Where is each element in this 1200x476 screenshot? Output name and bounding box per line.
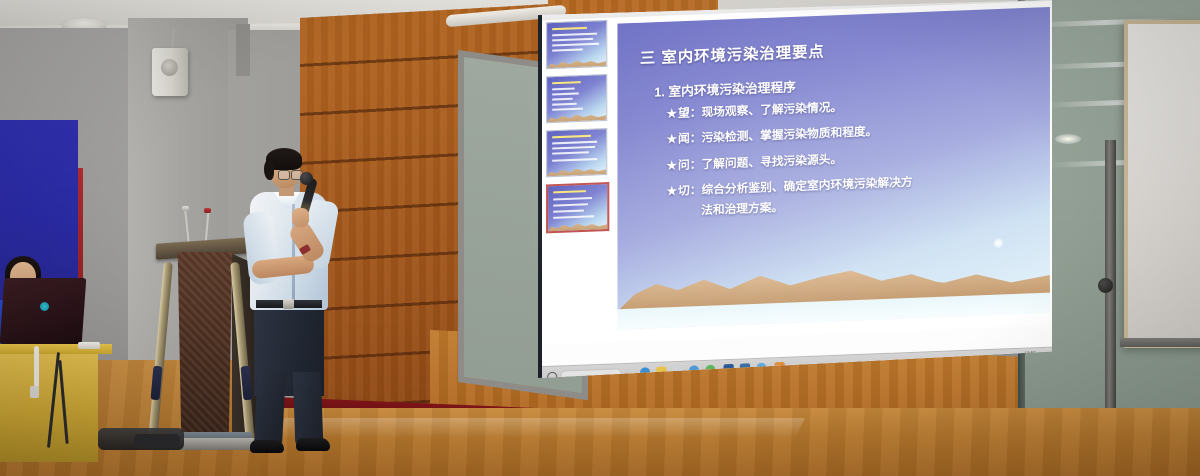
powerpoint-window[interactable]: 三 室内环境污染治理要点 1. 室内环境污染治理程序 ★望：现场观察、了解污染情… [542, 0, 1052, 378]
slide-title: 三 室内环境污染治理要点 [640, 40, 825, 69]
slide-bullet: ★切：综合分析鉴别、确定室内环境污染解决方 法和治理方案。 [666, 171, 1041, 220]
slide-thumbnail[interactable] [546, 128, 607, 177]
bullet-text: 现场观察、了解污染情况。 [701, 102, 842, 120]
slide-bullet-list: ★望：现场观察、了解污染情况。 ★闻：污染检测、掌握污染物质和程度。 ★问：了解… [666, 93, 1041, 231]
slide-thumbnail[interactable] [546, 74, 607, 123]
presenter-leg-right [293, 372, 323, 443]
laptop-screen [0, 278, 86, 344]
eyeglass-lens-left [278, 170, 290, 180]
slide-bullet: ★问：了解问题、寻找污染源头。 [666, 145, 1041, 174]
power-cable-white [34, 346, 39, 388]
laptop-logo-icon [40, 302, 49, 311]
floor-reflection [275, 418, 805, 438]
lecture-hall-scene: 三 室内环境污染治理要点 1. 室内环境污染治理程序 ★望：现场观察、了解污染情… [0, 0, 1200, 476]
bullet-label: 问： [678, 159, 701, 172]
slide-thumbnail[interactable] [546, 20, 607, 69]
power-adapter [30, 386, 39, 398]
star-bullet-icon: ★ [666, 186, 677, 199]
thumb-mountain-graphic [547, 111, 606, 122]
floor-equipment [134, 434, 180, 447]
slide-bullet: ★闻：污染检测、掌握污染物质和程度。 [666, 119, 1041, 148]
podium-mic-head [182, 206, 189, 211]
podium-front-panel [174, 252, 236, 448]
wall-speaker [152, 48, 188, 96]
podium-mic-head-red [204, 208, 211, 213]
thumb-mountain-graphic [547, 165, 606, 176]
projection-screen: 三 室内环境污染治理要点 1. 室内环境污染治理程序 ★望：现场观察、了解污染情… [538, 0, 1052, 378]
sun-glow-icon [994, 238, 1003, 248]
eyeglasses-icon [278, 170, 302, 178]
thumb-mountain-graphic [548, 220, 607, 231]
powerpoint-workspace: 三 室内环境污染治理要点 1. 室内环境污染治理程序 ★望：现场观察、了解污染情… [542, 0, 1052, 344]
bullet-text: 了解问题、寻找污染源头。 [701, 153, 842, 171]
presenter-belt-buckle [283, 299, 294, 309]
glass-light-glint [1055, 134, 1081, 144]
slide-thumbnail-selected[interactable] [546, 182, 609, 233]
whiteboard-adjust-knob[interactable] [1098, 278, 1113, 293]
presenter-shoe-right [296, 438, 330, 451]
presenter-hair-side [264, 160, 274, 180]
slide-canvas[interactable]: 三 室内环境污染治理要点 1. 室内环境污染治理程序 ★望：现场观察、了解污染情… [617, 7, 1049, 330]
thumb-mountain-graphic [547, 57, 606, 68]
wall-notch [236, 24, 250, 76]
star-bullet-icon: ★ [666, 160, 677, 173]
bullet-label: 望： [678, 107, 701, 120]
star-bullet-icon: ★ [666, 134, 677, 147]
bullet-text: 综合分析鉴别、确定室内环境污染解决方 [701, 177, 912, 197]
bullet-text: 污染检测、掌握污染物质和程度。 [701, 126, 877, 145]
microphone-head-icon [300, 172, 313, 185]
slide-subtitle: 1. 室内环境污染治理程序 [654, 76, 796, 101]
star-bullet-icon: ★ [666, 108, 677, 121]
phone-on-desk [78, 342, 100, 349]
presenter-hand [292, 208, 309, 227]
speaker-cone-icon [161, 59, 178, 76]
slide-thumbnail-panel[interactable] [546, 20, 609, 341]
presenter-shoe-left [250, 440, 284, 453]
whiteboard-marker-tray [1120, 338, 1200, 347]
whiteboard [1124, 20, 1200, 348]
presenter-leg-left [254, 371, 286, 442]
bullet-label: 切： [678, 185, 701, 198]
bullet-label: 闻： [678, 133, 701, 146]
start-button-icon[interactable] [547, 372, 557, 378]
